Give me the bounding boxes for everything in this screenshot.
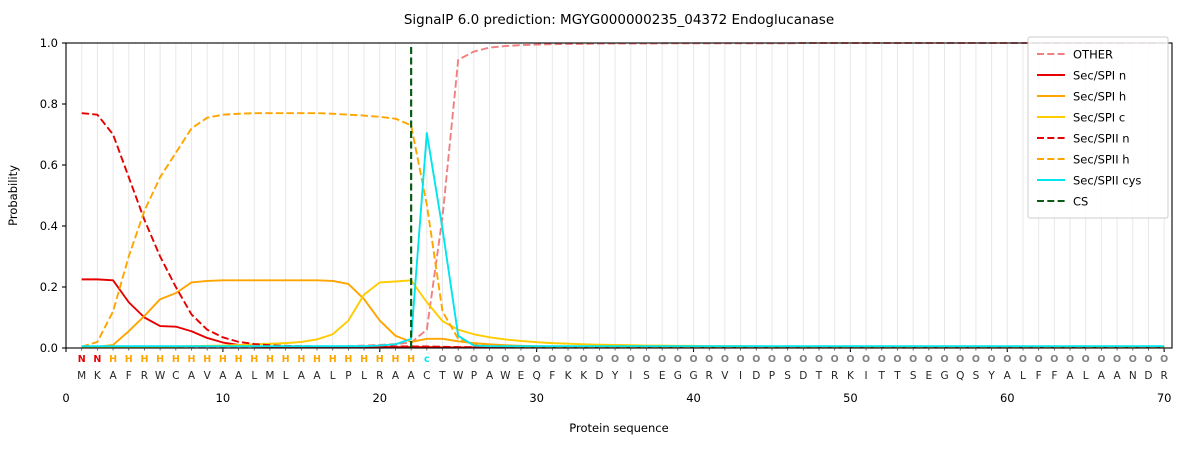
figure-background — [0, 0, 1200, 450]
signalp-prediction-figure: 0.00.20.40.60.81.0010203040506070SignalP… — [0, 0, 1200, 450]
chart-svg — [0, 0, 1200, 450]
